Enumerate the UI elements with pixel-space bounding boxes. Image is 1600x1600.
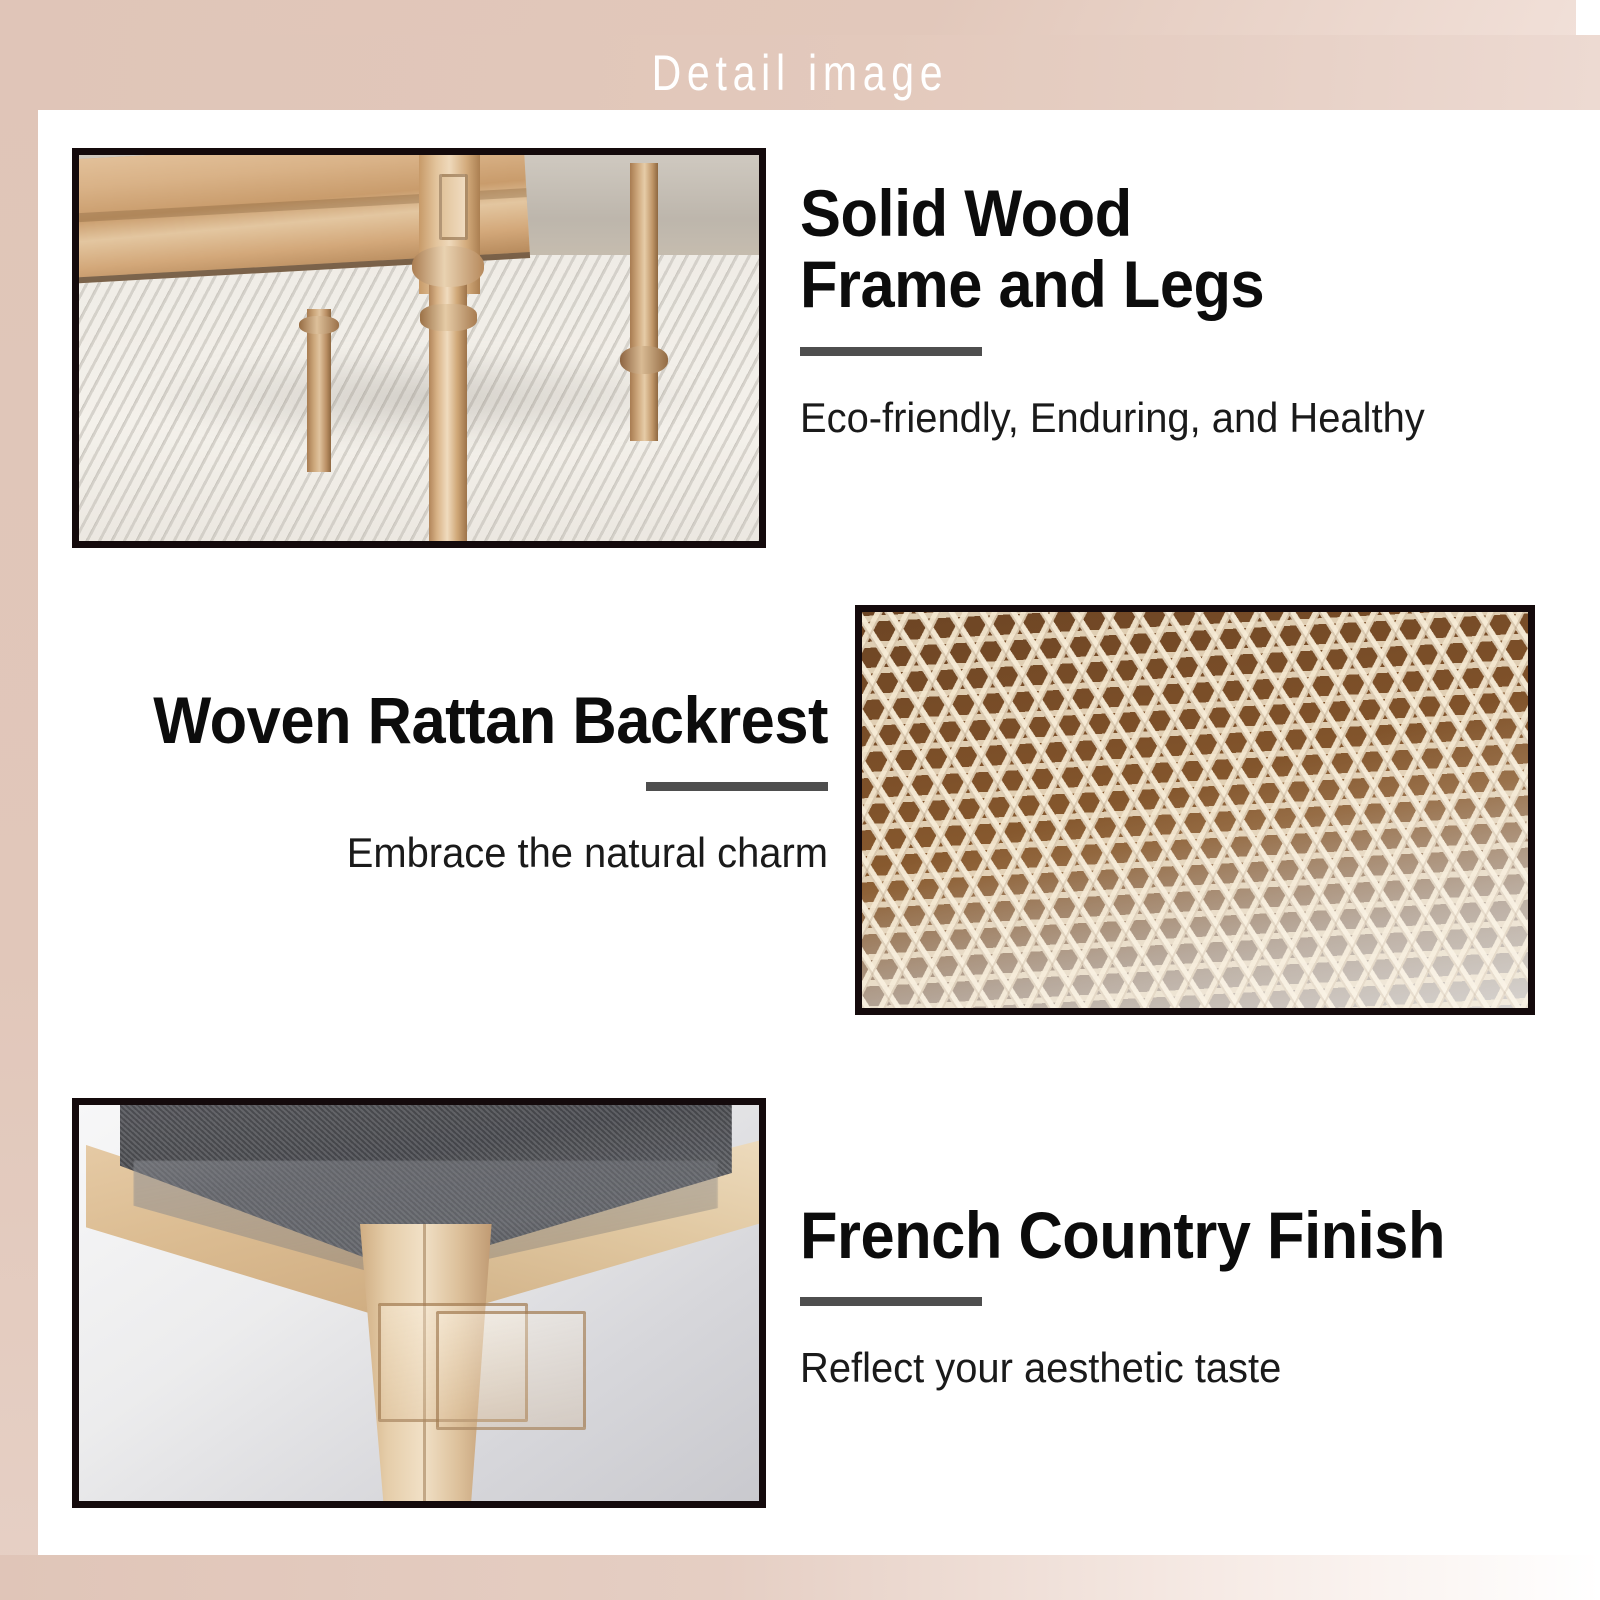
chair-leg-right — [630, 163, 659, 441]
feature-block-solid-wood: Solid Wood Frame and Legs Eco-friendly, … — [800, 178, 1540, 442]
feature-block-french-country: French Country Finish Reflect your aesth… — [800, 1200, 1540, 1392]
feature-subheading-woven-rattan: Embrace the natural charm — [78, 829, 829, 877]
corner-photo-scene — [79, 1105, 759, 1501]
chair-leg-back — [307, 309, 331, 471]
feature-subheading-french-country: Reflect your aesthetic taste — [800, 1344, 1503, 1392]
header-banner: Detail image — [0, 35, 1600, 110]
feature-subheading-solid-wood: Eco-friendly, Enduring, and Healthy — [800, 394, 1503, 442]
leg-carving-right — [436, 1311, 586, 1430]
wooden-legs-photo — [72, 148, 766, 548]
feature-divider-french-country — [800, 1297, 982, 1306]
frame-border-bottom — [0, 1555, 1600, 1600]
feature-heading-french-country: French Country Finish — [800, 1200, 1488, 1271]
feature-block-woven-rattan: Woven Rattan Backrest Embrace the natura… — [38, 685, 828, 877]
frame-border-right — [1576, 0, 1600, 1600]
rattan-highlight — [862, 612, 1528, 1008]
feature-divider-solid-wood — [800, 347, 982, 356]
chair-corner-photo — [72, 1098, 766, 1508]
page-title: Detail image — [652, 44, 949, 102]
feature-heading-solid-wood: Solid Wood Frame and Legs — [800, 178, 1488, 321]
legs-photo-scene — [79, 155, 759, 541]
feature-heading-woven-rattan: Woven Rattan Backrest — [93, 685, 828, 756]
rattan-photo-scene — [862, 612, 1528, 1008]
content-canvas: Solid Wood Frame and Legs Eco-friendly, … — [38, 110, 1576, 1555]
rattan-weave-photo — [855, 605, 1535, 1015]
feature-divider-woven-rattan — [646, 782, 828, 791]
chair-leg-front — [429, 252, 467, 545]
carved-post-panel — [439, 174, 468, 240]
detail-image-page: Detail image Solid Wood Frame and Legs E… — [0, 0, 1600, 1600]
frame-border-left — [0, 0, 38, 1600]
